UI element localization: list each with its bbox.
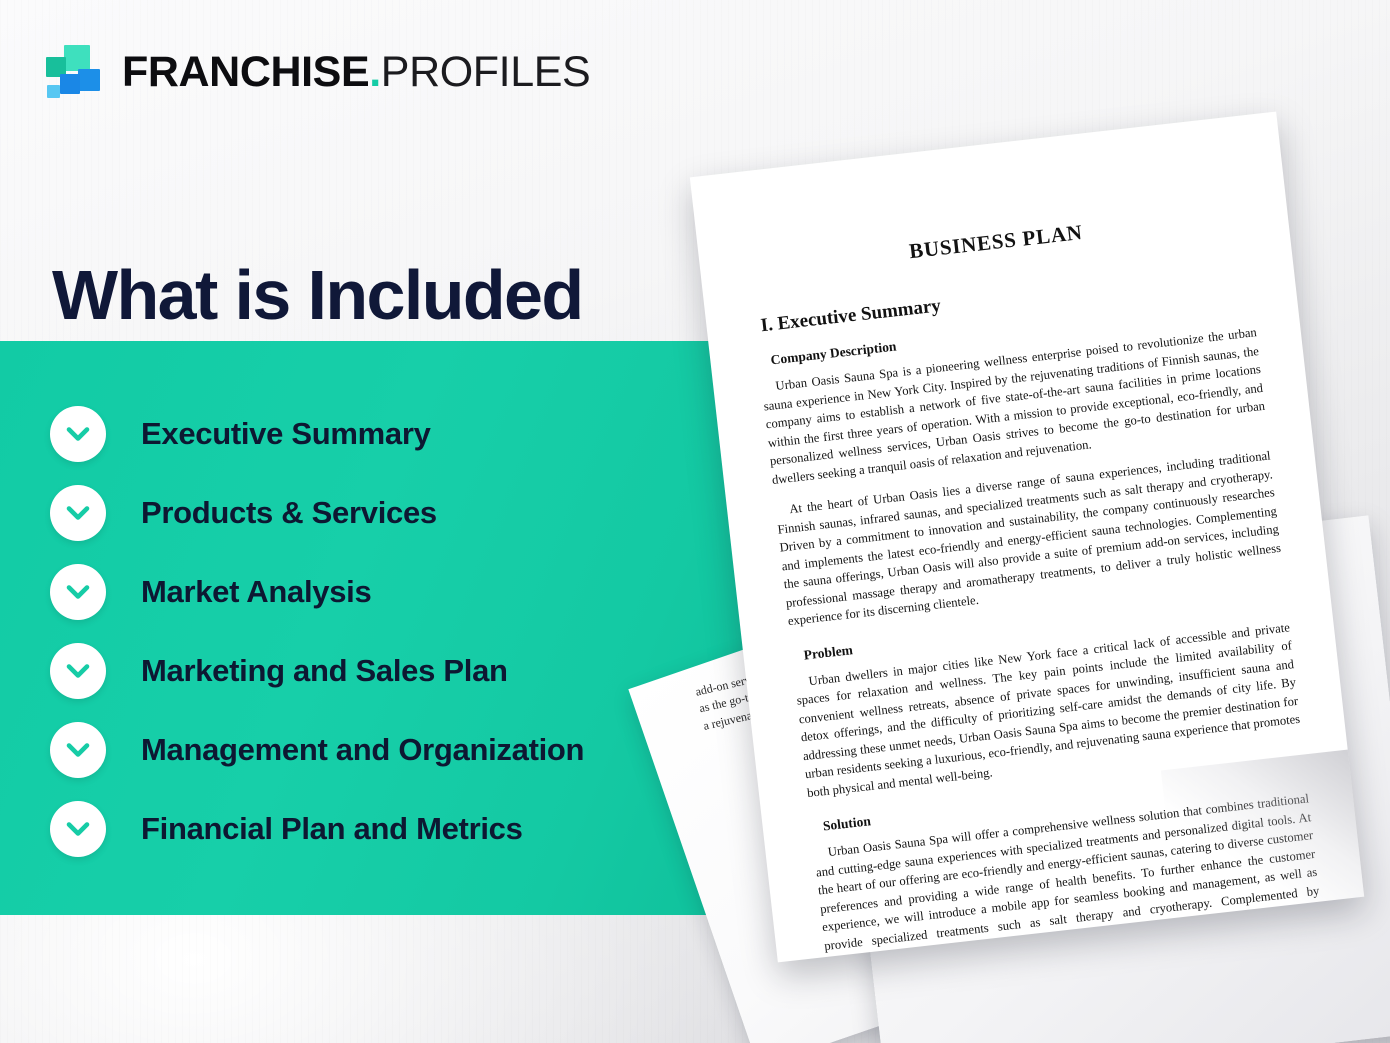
list-item[interactable]: Market Analysis: [0, 552, 754, 631]
list-item-label: Marketing and Sales Plan: [141, 653, 508, 689]
document-subsection: Problem Urban dwellers in major cities l…: [791, 593, 1303, 802]
chevron-down-icon: [50, 564, 106, 620]
logo-square-teal-large: [64, 45, 90, 71]
brand-name-thin: PROFILES: [381, 48, 590, 96]
document-subsection: Company Description Urban Oasis Sauna Sp…: [758, 298, 1284, 630]
list-item[interactable]: Financial Plan and Metrics: [0, 789, 754, 868]
list-item-label: Executive Summary: [141, 416, 431, 452]
chevron-down-icon: [50, 722, 106, 778]
brand-wordmark: FRANCHISE.PROFILES: [122, 51, 590, 94]
brand-logo[interactable]: FRANCHISE.PROFILES: [46, 44, 590, 100]
logo-squares-icon: [46, 44, 106, 100]
list-item[interactable]: Executive Summary: [0, 394, 754, 473]
logo-square-lightblue: [47, 85, 60, 98]
feature-list: Executive Summary Products & Services Ma…: [0, 341, 754, 868]
slide-canvas: FRANCHISE.PROFILES What is Included Exec…: [0, 0, 1390, 1043]
document-page-front[interactable]: BUSINESS PLAN I. Executive Summary Compa…: [690, 112, 1364, 963]
brand-name-bold: FRANCHISE: [122, 48, 369, 96]
chevron-down-icon: [50, 406, 106, 462]
chevron-down-icon: [50, 801, 106, 857]
chevron-down-icon: [50, 643, 106, 699]
document-content: BUSINESS PLAN I. Executive Summary Compa…: [690, 112, 1364, 963]
list-item-label: Market Analysis: [141, 574, 371, 610]
list-item-label: Management and Organization: [141, 732, 584, 768]
page-title: What is Included: [52, 259, 583, 333]
chevron-down-icon: [50, 485, 106, 541]
list-item-label: Products & Services: [141, 495, 437, 531]
document-stack: add-on services, Urban Oasis Sauna Spa w…: [690, 130, 1390, 1043]
list-item-label: Financial Plan and Metrics: [141, 811, 523, 847]
list-item[interactable]: Products & Services: [0, 473, 754, 552]
logo-square-blue-right: [78, 69, 100, 91]
logo-square-blue-mid: [60, 74, 80, 94]
brand-name-dot: .: [369, 48, 381, 96]
